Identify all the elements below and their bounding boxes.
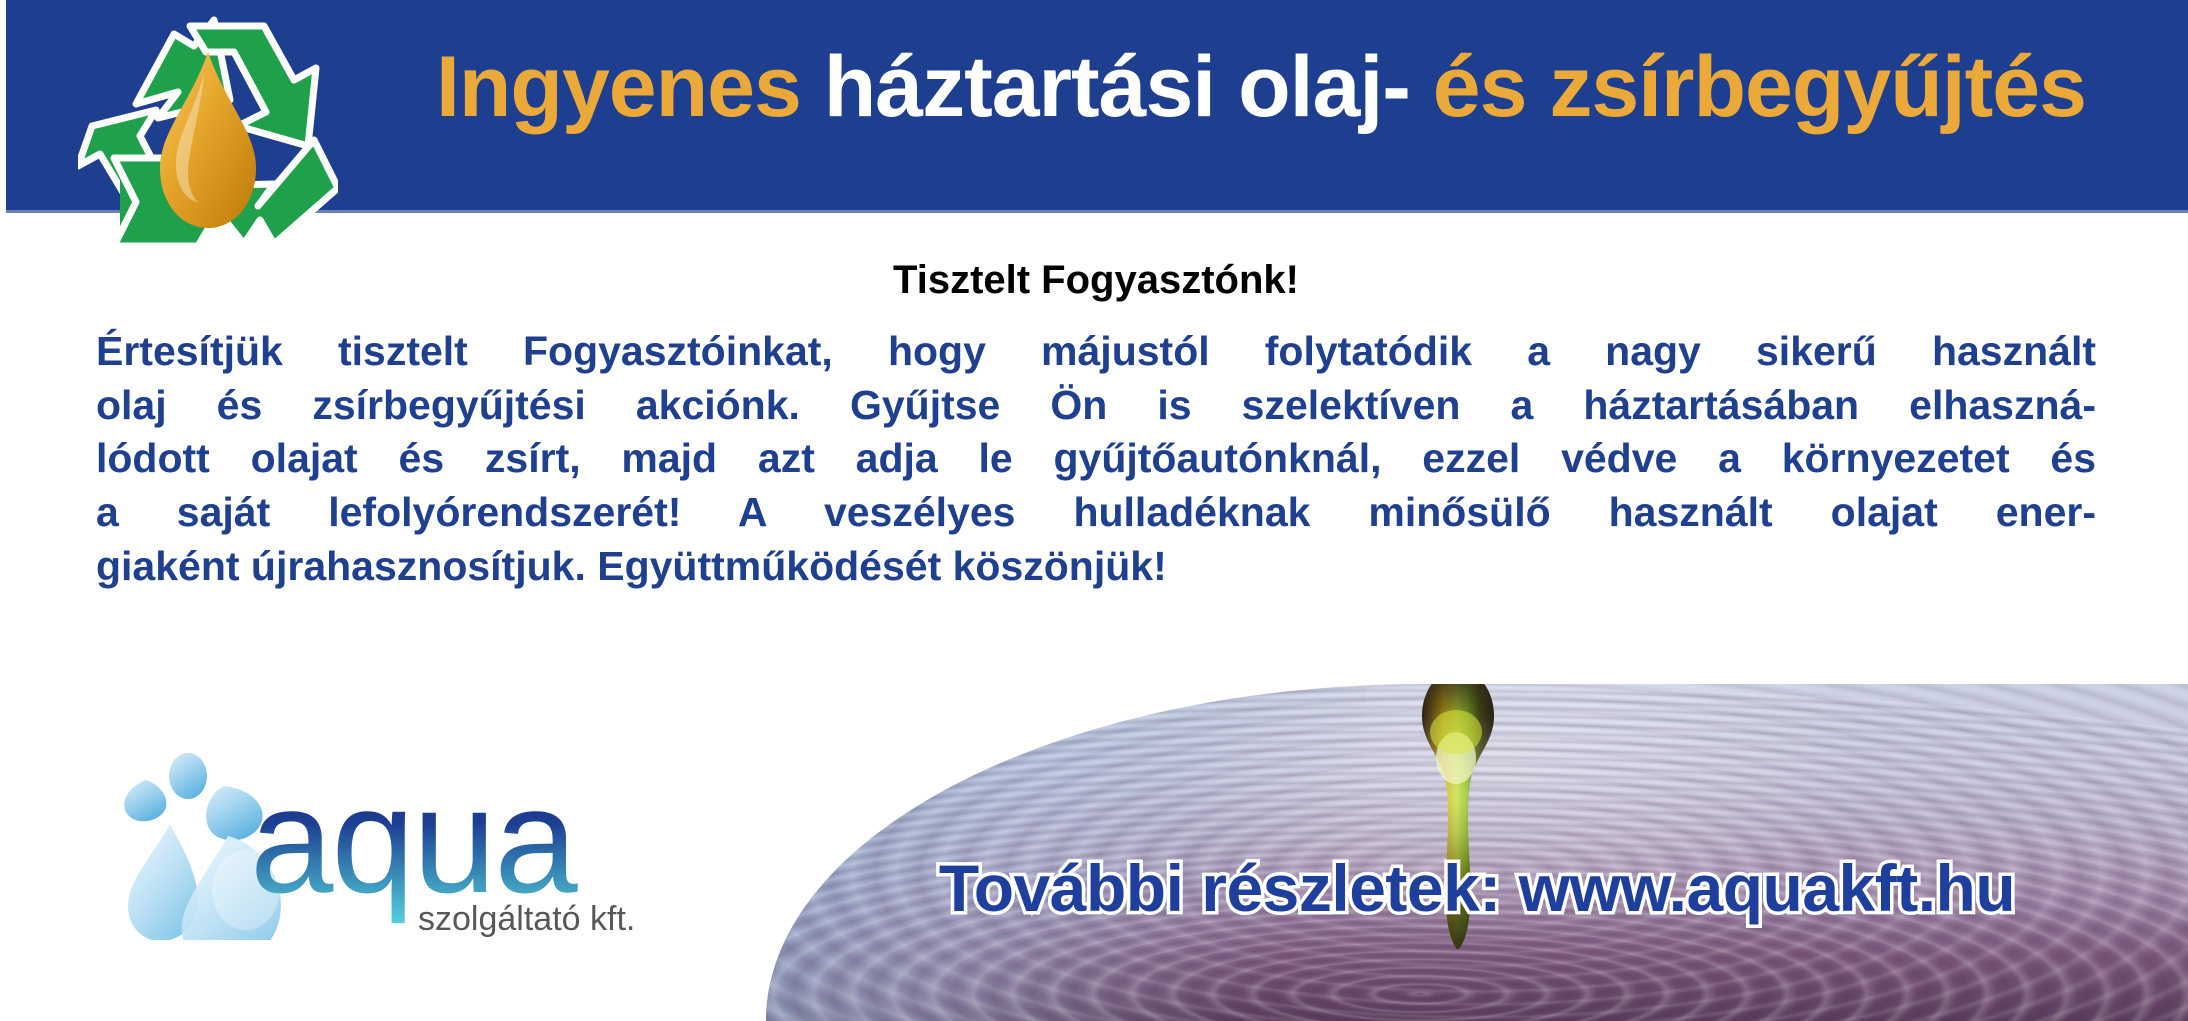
- body-line-3: lódott olajat és zsírt, majd azt adja le…: [96, 432, 2096, 486]
- body-line-4: a saját lefolyórendszerét! A veszélyes h…: [96, 486, 2096, 540]
- aqua-subtitle: szolgáltató kft.: [418, 900, 635, 938]
- body-line-5: giaként újrahasznosítjuk. Együttműködésé…: [96, 540, 2096, 594]
- water-droplet-ripple-photo: További részletek: www.aquakft.hu: [766, 684, 2188, 1021]
- salutation: Tisztelt Fogyasztónk!: [96, 258, 2096, 303]
- page-title: Ingyenes háztartási olaj- és zsírbegyűjt…: [436, 44, 2156, 130]
- flyer-page: Ingyenes háztartási olaj- és zsírbegyűjt…: [0, 0, 2188, 1021]
- cta-url-text[interactable]: További részletek: www.aquakft.hu: [766, 850, 2188, 926]
- body-line-1: Értesítjük tisztelt Fogyasztóinkat, hogy…: [96, 325, 2096, 379]
- body-paragraph: Értesítjük tisztelt Fogyasztóinkat, hogy…: [96, 325, 2096, 594]
- aqua-wordmark: aqua: [250, 756, 578, 924]
- page-title-part-2: háztartási olaj-: [801, 39, 1410, 135]
- page-title-part-1: Ingyenes: [436, 39, 801, 135]
- body-line-2: olaj és zsírbegyűjtési akciónk. Gyűjtse …: [96, 379, 2096, 433]
- page-title-part-3: és zsírbegyűjtés: [1410, 39, 2086, 135]
- body-block: Tisztelt Fogyasztónk! Értesítjük tisztel…: [96, 258, 2096, 594]
- recycle-oil-drop-icon: [78, 8, 338, 248]
- aqua-logo: aqua szolgáltató kft.: [100, 740, 700, 940]
